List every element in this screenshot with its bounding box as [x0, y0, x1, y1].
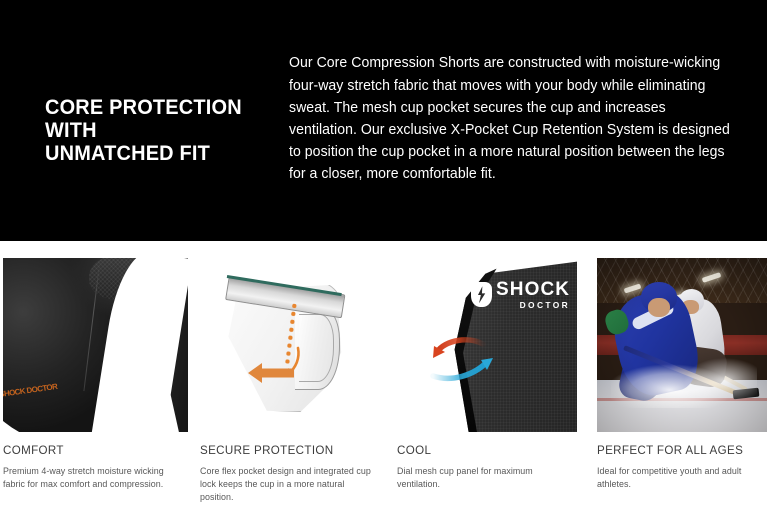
logo-primary-text: SHOCK: [496, 280, 570, 299]
hockey-players-action-photo: [597, 258, 767, 432]
feature-item-secure-protection: SECURE PROTECTION Core flex pocket desig…: [197, 241, 387, 506]
cup-pocket-illustration: [200, 258, 385, 432]
feature-item-cool: SHOCK DOCTOR: [394, 241, 584, 506]
hero-banner: CORE PROTECTION WITH UNMATCHED FIT Our C…: [0, 0, 767, 241]
feature-description: Ideal for competitive youth and adult at…: [597, 465, 767, 491]
shock-doctor-logo: SHOCK DOCTOR: [471, 280, 570, 309]
feature-grid: SHOCK DOCTOR COMFORT Premium 4-way stret…: [0, 241, 767, 506]
compression-short-closeup-photo: SHOCK DOCTOR: [3, 258, 188, 432]
product-feature-page: CORE PROTECTION WITH UNMATCHED FIT Our C…: [0, 0, 767, 506]
feature-item-comfort: SHOCK DOCTOR COMFORT Premium 4-way stret…: [0, 241, 190, 506]
page-title: CORE PROTECTION WITH UNMATCHED FIT: [45, 96, 264, 165]
headline-line-2: WITH: [45, 119, 264, 142]
feature-title: COMFORT: [3, 444, 64, 457]
feature-description: Premium 4-way stretch moisture wicking f…: [3, 465, 179, 491]
feature-title: PERFECT FOR ALL AGES: [597, 444, 743, 457]
insert-direction-arrow-icon: [248, 362, 294, 384]
headline-line-3: UNMATCHED FIT: [45, 142, 264, 165]
hero-description: Our Core Compression Shorts are construc…: [289, 52, 730, 185]
feature-title: COOL: [397, 444, 431, 457]
feature-description: Core flex pocket design and integrated c…: [200, 465, 376, 505]
feature-title: SECURE PROTECTION: [200, 444, 334, 457]
lightning-bolt-badge-icon: [471, 282, 492, 307]
feature-description: Dial mesh cup panel for maximum ventilat…: [397, 465, 573, 491]
headline-line-1: CORE PROTECTION: [45, 96, 264, 119]
feature-item-perfect-for-all-ages: PERFECT FOR ALL AGES Ideal for competiti…: [591, 241, 767, 506]
photo-vignette: [597, 258, 767, 432]
mesh-panel-airflow-photo: SHOCK DOCTOR: [397, 258, 577, 432]
cup-pocket-flap-inner: [299, 314, 334, 382]
airflow-arrows-icon: [425, 336, 525, 392]
logo-secondary-text: DOCTOR: [496, 301, 570, 309]
